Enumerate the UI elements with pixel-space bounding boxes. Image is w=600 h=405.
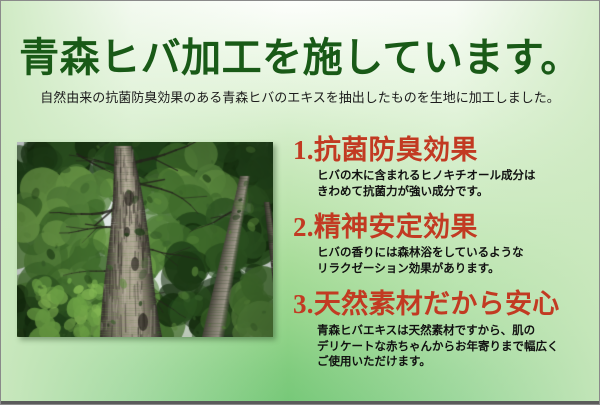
banner-header: 青森ヒバ加工を施しています。 自然由来の抗菌防臭効果のある青森ヒバのエキスを抽出… — [1, 1, 599, 119]
benefit-number: 2. — [293, 212, 314, 242]
benefit-description-line: ヒバの木に含まれるヒノキチオール成分は — [317, 169, 593, 185]
benefit-description-line: ヒバの香りには森林浴をしているような — [317, 246, 593, 262]
bottom-divider — [1, 401, 599, 404]
benefit-title: 精神安定効果 — [314, 212, 478, 242]
benefit-description: 青森ヒバエキスは天然素材ですから、肌の デリケートな赤ちゃんからお年寄りまで幅広… — [293, 324, 593, 371]
benefit-heading: 1.抗菌防臭効果 — [293, 135, 593, 166]
benefit-number: 3. — [293, 289, 314, 319]
page-title: 青森ヒバ加工を施しています。 — [1, 35, 599, 81]
benefit-heading: 3.天然素材だから安心 — [293, 289, 593, 320]
hiba-tree-photo — [17, 142, 273, 337]
benefit-description-line: 青森ヒバエキスは天然素材ですから、肌の — [317, 324, 593, 340]
benefit-description-line: きわめて抗菌力が強い成分です。 — [317, 185, 593, 201]
benefit-number: 1. — [293, 135, 314, 165]
benefit-description-line: リラクゼーション効果があります。 — [317, 262, 593, 278]
benefits-list: 1.抗菌防臭効果 ヒバの木に含まれるヒノキチオール成分は きわめて抗菌力が強い成… — [293, 135, 593, 383]
benefit-title: 抗菌防臭効果 — [314, 135, 478, 165]
list-item: 2.精神安定効果 ヒバの香りには森林浴をしているような リラクゼーション効果があ… — [293, 212, 593, 277]
hiba-tree-photo-image — [17, 142, 273, 337]
list-item: 3.天然素材だから安心 青森ヒバエキスは天然素材ですから、肌の デリケートな赤ち… — [293, 289, 593, 371]
list-item: 1.抗菌防臭効果 ヒバの木に含まれるヒノキチオール成分は きわめて抗菌力が強い成… — [293, 135, 593, 200]
benefit-heading: 2.精神安定効果 — [293, 212, 593, 243]
benefit-title: 天然素材だから安心 — [314, 289, 560, 319]
benefit-description-line: ご使用いただけます。 — [317, 355, 593, 371]
banner-subtitle: 自然由来の抗菌防臭効果のある青森ヒバのエキスを抽出したものを生地に加工しました。 — [1, 89, 599, 107]
hiba-promotional-banner: 青森ヒバ加工を施しています。 自然由来の抗菌防臭効果のある青森ヒバのエキスを抽出… — [0, 0, 600, 405]
benefit-description: ヒバの木に含まれるヒノキチオール成分は きわめて抗菌力が強い成分です。 — [293, 169, 593, 200]
benefit-description: ヒバの香りには森林浴をしているような リラクゼーション効果があります。 — [293, 246, 593, 277]
benefit-description-line: デリケートな赤ちゃんからお年寄りまで幅広く — [317, 340, 593, 356]
